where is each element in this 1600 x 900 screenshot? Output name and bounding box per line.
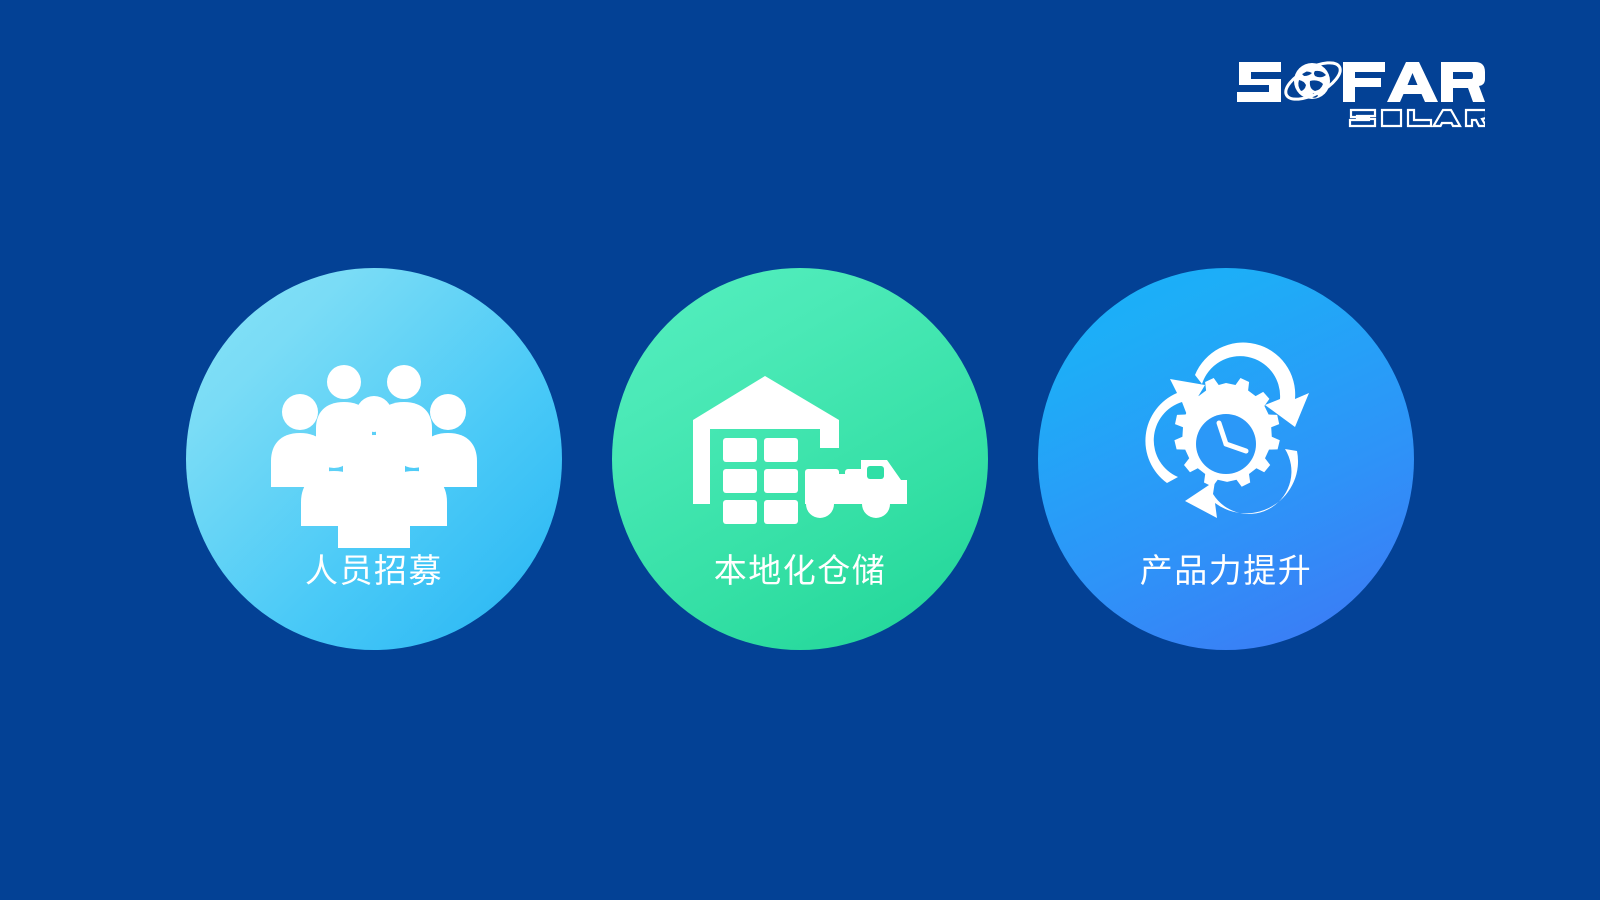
feature-label-product-capability: 产品力提升 — [1140, 553, 1313, 589]
group-of-people-icon — [259, 356, 489, 531]
feature-label-localized-warehousing: 本地化仓储 — [714, 553, 887, 589]
slide-root: 人员招募 — [0, 0, 1600, 900]
logo-letter-s — [1237, 62, 1281, 102]
logo-subtext-solar — [1350, 110, 1485, 126]
logo-letters-far — [1343, 62, 1485, 102]
feature-circle-personnel-recruitment[interactable]: 人员招募 — [186, 268, 562, 650]
feature-circle-product-capability[interactable]: 产品力提升 — [1038, 268, 1414, 650]
warehouse-truck-icon — [685, 356, 915, 531]
feature-label-personnel-recruitment: 人员招募 — [305, 553, 443, 589]
gear-clock-cycle-icon — [1111, 356, 1341, 531]
feature-circle-row: 人员招募 — [0, 268, 1600, 650]
sofar-solar-logo — [1235, 48, 1485, 128]
feature-circle-localized-warehousing[interactable]: 本地化仓储 — [612, 268, 988, 650]
